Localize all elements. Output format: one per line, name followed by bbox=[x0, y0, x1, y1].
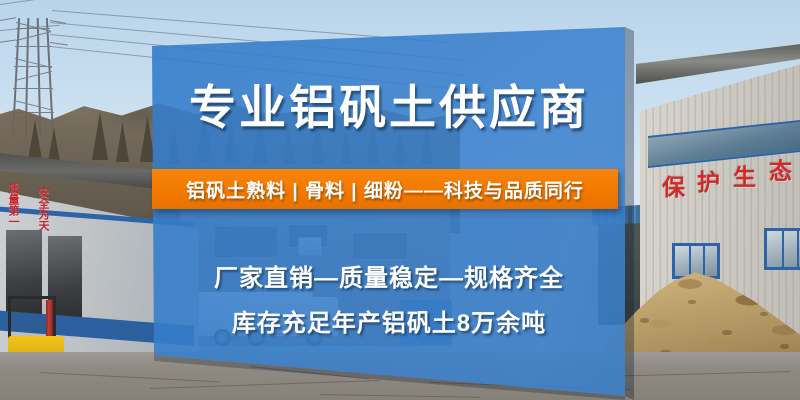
promotional-banner: 质量第一 安全为天 保 护 生 态 bbox=[0, 0, 800, 400]
wall-sign-char-3: 生 bbox=[733, 166, 756, 189]
tagline-text: 铝矾土熟料 | 骨料 | 细粉——科技与品质同行 bbox=[186, 176, 584, 203]
subline-1: 厂家直销—质量稳定—规格齐全 bbox=[152, 258, 626, 293]
left-building-sign-1: 质量第一 bbox=[6, 182, 19, 228]
left-building-sign-2: 安全为天 bbox=[36, 186, 49, 232]
tagline-bar: 铝矾土熟料 | 骨料 | 细粉——科技与品质同行 bbox=[152, 169, 618, 209]
wall-sign-char-2: 护 bbox=[697, 171, 720, 194]
subline-2: 库存充足年产铝矾土8万余吨 bbox=[152, 303, 626, 338]
right-building-window bbox=[764, 228, 800, 270]
headline: 专业铝矾土供应商 bbox=[152, 80, 626, 136]
wall-sign-char-4: 态 bbox=[769, 160, 792, 183]
wall-sign-char-1: 保 bbox=[662, 176, 685, 199]
banner-content: 专业铝矾土供应商 铝矾土熟料 | 骨料 | 细粉——科技与品质同行 厂家直销—质… bbox=[152, 0, 626, 400]
